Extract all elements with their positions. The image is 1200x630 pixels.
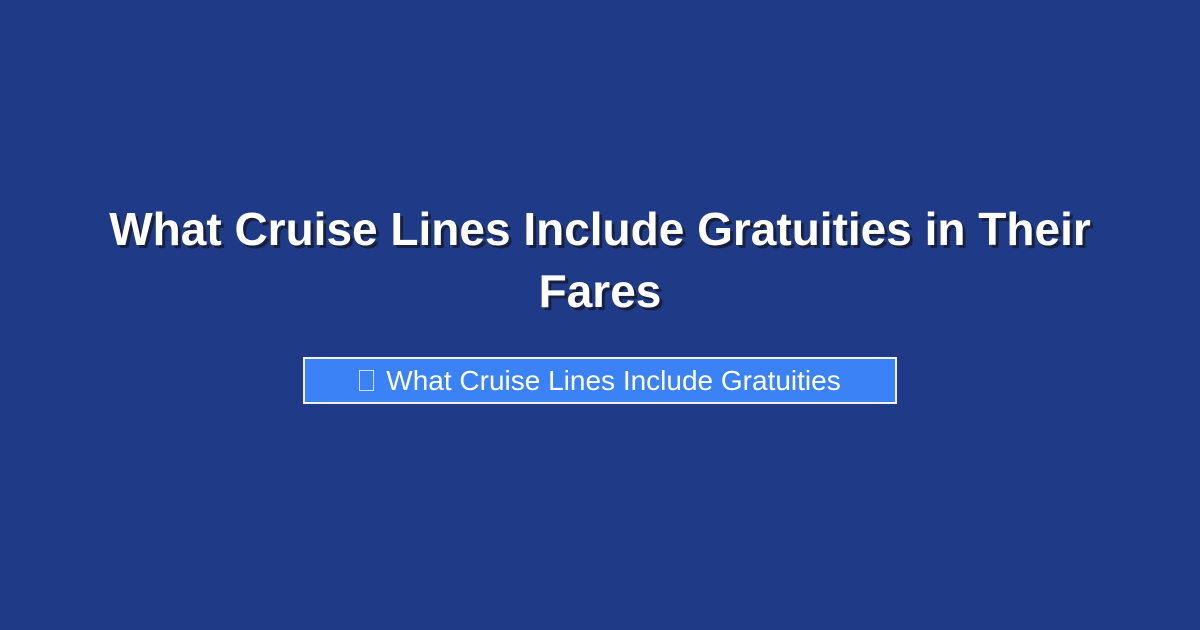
page-title: What Cruise Lines Include Gratuities in … — [60, 198, 1140, 322]
cta-container: What Cruise Lines Include Gratuities — [0, 357, 1200, 404]
hero-card: What Cruise Lines Include Gratuities in … — [0, 0, 1200, 630]
cta-button-label: What Cruise Lines Include Gratuities — [386, 367, 840, 395]
cta-button[interactable]: What Cruise Lines Include Gratuities — [303, 357, 897, 404]
missing-glyph-icon — [359, 370, 374, 391]
